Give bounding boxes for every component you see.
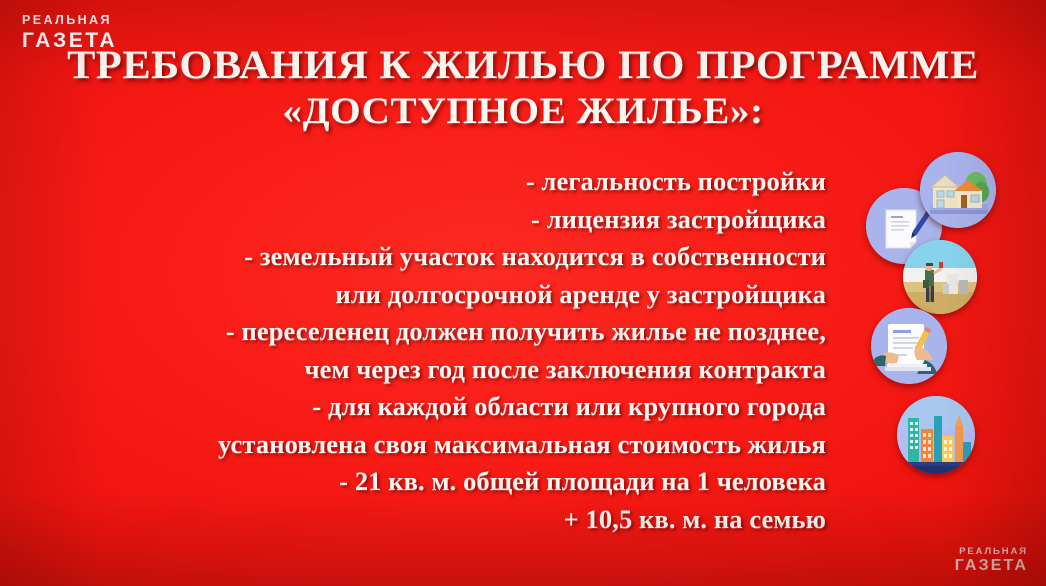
brand-logo-line1: РЕАЛЬНАЯ [22, 14, 117, 27]
requirement-line: - переселенец должен получить жилье не п… [40, 313, 826, 351]
page-title-line1: ТРЕБОВАНИЯ К ЖИЛЬЮ ПО ПРОГРАММЕ [0, 42, 1046, 88]
requirements-list: - легальность постройки - лицензия застр… [40, 163, 826, 538]
requirement-line: - 21 кв. м. общей площади на 1 человека [40, 463, 826, 501]
requirement-line: + 10,5 кв. м. на семью [40, 501, 826, 539]
requirement-line: - легальность постройки [40, 163, 826, 201]
page-title: ТРЕБОВАНИЯ К ЖИЛЬЮ ПО ПРОГРАММЕ «ДОСТУПН… [0, 42, 1046, 136]
watermark: РЕАЛЬНАЯ ГАЗЕТА [955, 547, 1028, 575]
house-icon [920, 152, 996, 228]
requirement-line: чем через год после заключения контракта [40, 351, 826, 389]
cityscape-icon [897, 396, 975, 474]
requirement-line: - для каждой области или крупного города [40, 388, 826, 426]
requirement-line: - земельный участок находится в собствен… [40, 238, 826, 276]
watermark-line2: ГАЗЕТА [955, 558, 1028, 574]
requirement-line: или долгосрочной аренде у застройщика [40, 276, 826, 314]
infographic-slide: РЕАЛЬНАЯ ГАЗЕТА ТРЕБОВАНИЯ К ЖИЛЬЮ ПО ПР… [0, 0, 1046, 586]
requirement-line: - лицензия застройщика [40, 201, 826, 239]
page-title-line2: «ДОСТУПНОЕ ЖИЛЬЕ»: [0, 88, 1046, 136]
land-plot-person-icon [903, 240, 977, 314]
contract-signing-icon [871, 308, 947, 384]
watermark-line1: РЕАЛЬНАЯ [955, 547, 1028, 557]
requirement-line: установлена своя максимальная стоимость … [40, 426, 826, 464]
